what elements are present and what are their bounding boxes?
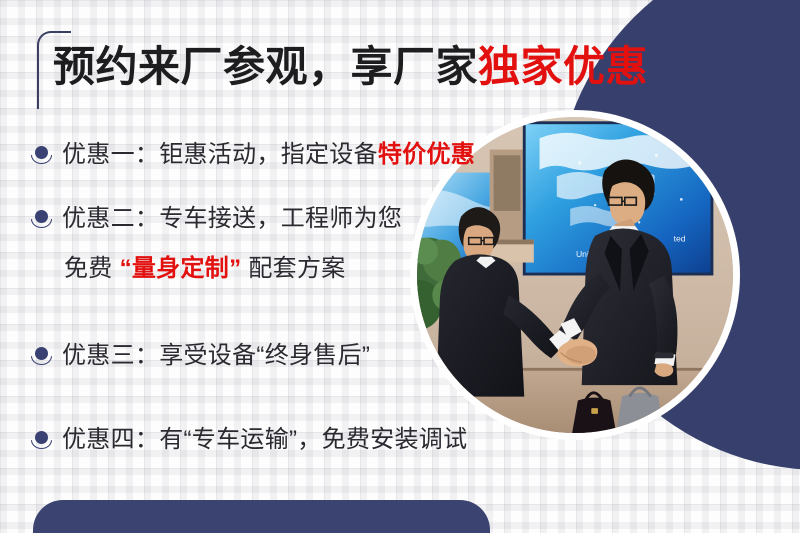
list-item-text: 优惠四：有“专车运输”，免费安装调试	[62, 423, 467, 457]
list-item: 优惠三：享受设备“终身售后”	[30, 339, 500, 375]
list-item: 优惠二：专车接送，工程师为您 免费 “量身定制” 配套方案	[30, 202, 500, 286]
benefits-list: 优惠一：钜惠活动，指定设备特价优惠 优惠二：专车接送，工程师为您 免费 “量身定…	[30, 138, 500, 459]
list-item-label: 优惠三：	[62, 342, 159, 369]
list-item: 优惠一：钜惠活动，指定设备特价优惠	[30, 138, 500, 174]
list-item-line2-suffix: 配套方案	[248, 255, 345, 282]
promo-banner: 预约来厂参观，享厂家独家优惠 优惠一：钜惠活动，指定设备特价优惠 优惠二：专车接…	[0, 0, 800, 533]
list-item-body: 享受设备“终身售后”	[159, 342, 370, 369]
list-item-body: 有“专车运输”，免费安装调试	[159, 426, 467, 453]
headline-red-text: 独家优惠	[478, 43, 648, 90]
list-item-line2-prefix: 免费	[64, 255, 113, 282]
list-item: 优惠四：有“专车运输”，免费安装调试	[30, 423, 500, 459]
bullet-dot-icon	[30, 427, 56, 459]
headline-dark-text: 预约来厂参观，享厂家	[53, 43, 478, 90]
list-item-text: 优惠三：享受设备“终身售后”	[62, 339, 370, 373]
bullet-dot-icon	[30, 343, 56, 375]
list-item-text: 优惠二：专车接送，工程师为您 免费 “量身定制” 配套方案	[62, 202, 402, 286]
list-item-label: 优惠四：	[62, 426, 159, 453]
list-item-label: 优惠一：	[62, 141, 159, 168]
bullet-dot-icon	[30, 142, 56, 174]
list-item-highlight: 特价优惠	[378, 141, 475, 168]
list-item-highlight: “量身定制”	[120, 255, 242, 282]
svg-text:ted: ted	[674, 233, 686, 243]
list-item-body: 专车接送，工程师为您	[159, 205, 402, 232]
list-item-second-line: 免费 “量身定制” 配套方案	[64, 252, 402, 286]
list-item-text: 优惠一：钜惠活动，指定设备特价优惠	[62, 138, 475, 172]
list-item-body: 钜惠活动，指定设备	[159, 141, 378, 168]
bullet-dot-icon	[30, 206, 56, 238]
bottom-navy-bar	[33, 500, 490, 533]
page-title: 预约来厂参观，享厂家独家优惠	[53, 44, 648, 89]
list-item-label: 优惠二：	[62, 205, 159, 232]
